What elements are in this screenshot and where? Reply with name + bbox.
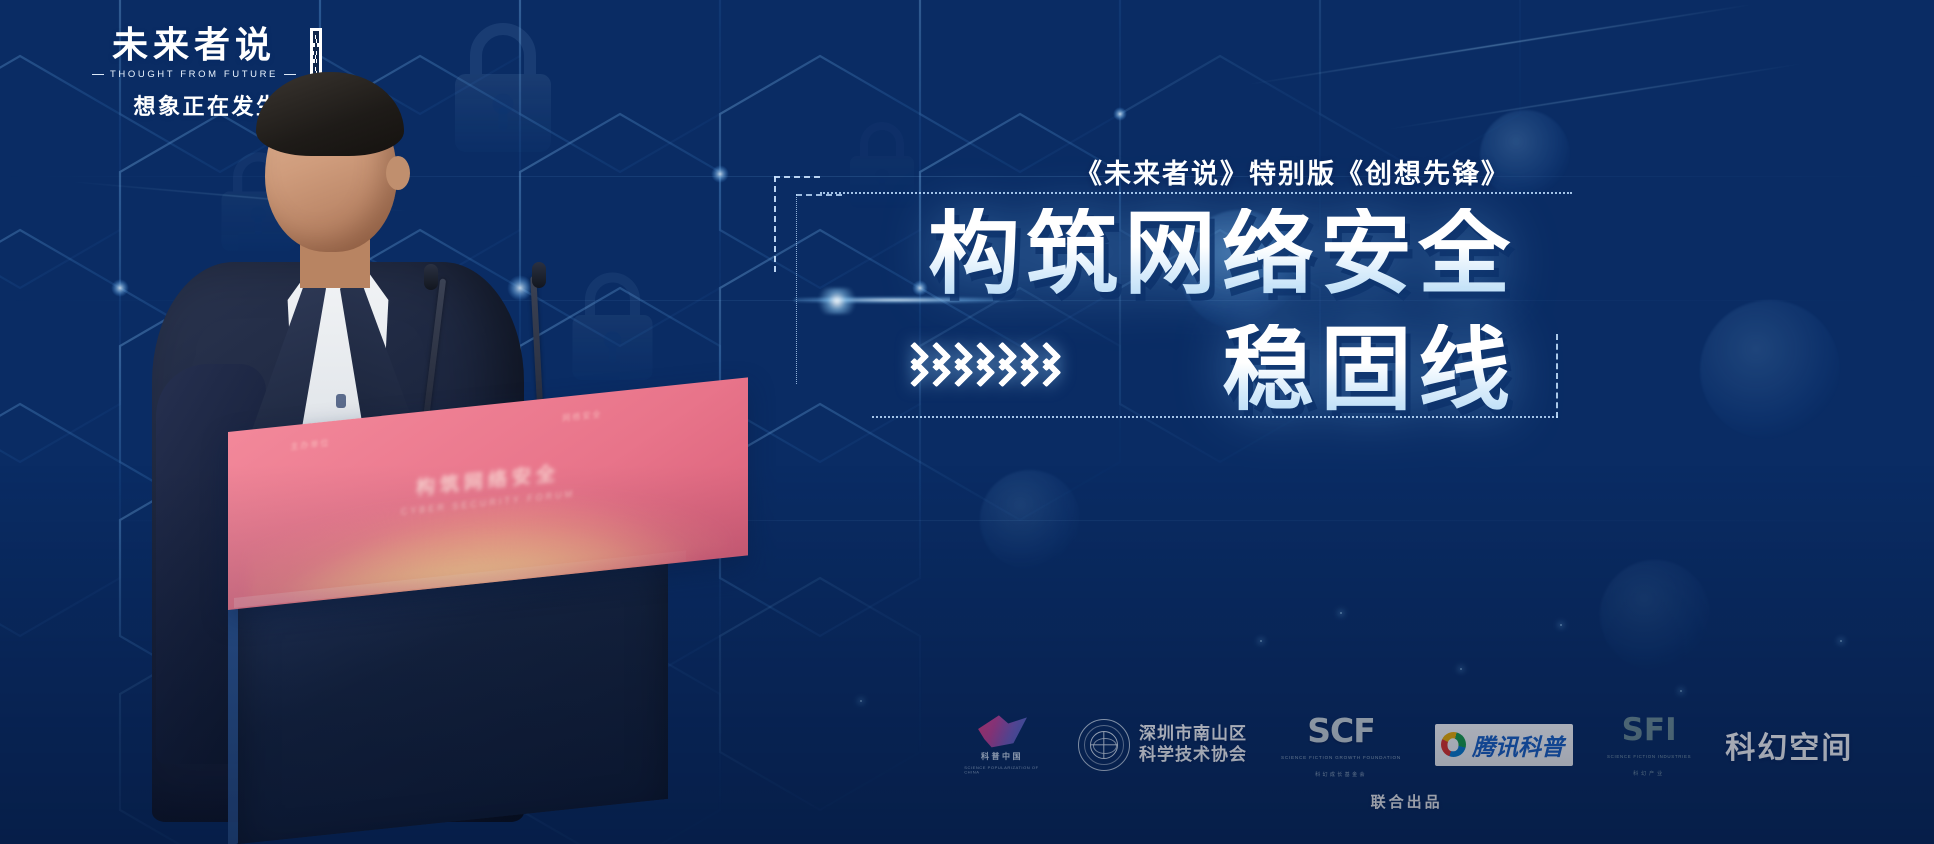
divider-top [820,192,1572,194]
tencent-kepu-wordmark: 腾讯科普 [1472,728,1564,762]
speaker-ear [386,156,410,190]
sponsor-logo-sfi[interactable]: SFI SCIENCE FICTION INDUSTRIES 科幻产业 [1607,712,1691,777]
bracket-bottom-right [1556,334,1558,418]
headline-block: 《未来者说》特别版《创想先锋》 构筑网络安全 稳固线 [760,130,1520,440]
title-line-2: 稳固线 [1222,324,1516,416]
sfi-name-en: SCIENCE FICTION INDUSTRIES [1607,754,1691,759]
bracket-top-left [774,176,820,272]
sponsor-logo-nanshan-cast[interactable]: 深圳市南山区 科学技术协会 [1078,719,1247,771]
lens-flare-core [814,288,860,314]
scf-name-en: SCIENCE FICTION GROWTH FOUNDATION [1281,755,1401,760]
kepu-china-mark-icon [976,714,1028,748]
kehuan-kongjian-wordmark: 科幻空间 [1725,723,1853,767]
banner-stage: 未来者说 THOUGHT FROM FUTURE [0,0,1934,844]
sfi-name-cn: 科幻产业 [1633,770,1665,777]
kicker-text: 《未来者说》特别版《创想先锋》 [1075,152,1510,191]
sponsor-logo-kehuan-kongjian[interactable]: 科幻空间 [1725,723,1853,767]
sponsor-strip: 科普中国 SCIENCE POPULARIZATION OF CHINA 深圳市… [960,711,1853,778]
microphone-head-left [424,264,438,290]
cast-seal-icon [1078,719,1130,771]
joint-production-label: 联合出品 [960,791,1853,812]
speaker-hair [256,72,404,156]
sponsor-logo-tencent-kepu[interactable]: 腾讯科普 [1435,724,1573,766]
nanshan-cast-line1: 深圳市南山区 [1139,724,1247,744]
sponsor-logo-kepu-china[interactable]: 科普中国 SCIENCE POPULARIZATION OF CHINA [960,714,1044,775]
nanshan-cast-line2: 科学技术协会 [1139,745,1247,765]
globe-icon [1090,731,1118,759]
sfi-wordmark: SFI [1622,712,1677,748]
scf-name-cn: 科幻成长基金会 [1315,771,1367,778]
podium-tag-left: 主办单位 [290,437,330,452]
scf-wordmark: SCF [1307,711,1375,750]
kepu-china-name-en: SCIENCE POPULARIZATION OF CHINA [964,766,1040,775]
sponsor-logo-scf[interactable]: SCF SCIENCE FICTION GROWTH FOUNDATION 科幻… [1281,711,1401,778]
chevron-arrows-icon [902,342,1053,386]
microphone-head-right [532,262,546,288]
podium: 主办单位 网络安全 构筑网络安全 CYBER SECURITY FORUM [228,432,748,844]
brand-name-cn: 未来者说 [112,26,276,64]
divider-bottom [872,416,1558,418]
title-line-1: 构筑网络安全 [928,208,1516,300]
tencent-penguin-icon [1441,732,1466,757]
speaker-zipper [336,394,346,408]
podium-tag-right: 网络安全 [562,409,602,424]
nanshan-cast-name: 深圳市南山区 科学技术协会 [1139,724,1247,764]
kepu-china-name-cn: 科普中国 [981,751,1023,762]
